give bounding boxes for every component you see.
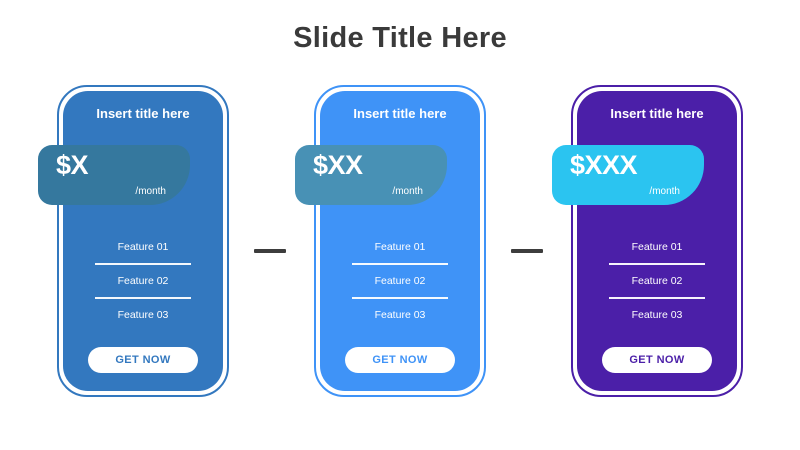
- feature-item: Feature 03: [63, 299, 223, 331]
- feature-divider: [609, 297, 705, 299]
- card-title-2: Insert title here: [577, 105, 737, 122]
- pricing-card-1[interactable]: Insert title here $XX /month Feature 01 …: [314, 85, 486, 397]
- price-amount-1: $XX: [313, 150, 363, 180]
- feature-item: Feature 01: [320, 231, 480, 263]
- price-period-1: /month: [392, 186, 423, 198]
- card-title-0: Insert title here: [63, 105, 223, 122]
- get-now-button-1[interactable]: GET NOW: [345, 347, 455, 373]
- feature-divider: [352, 297, 448, 299]
- card-separator-dash-0: [254, 249, 286, 253]
- feature-item: Feature 02: [63, 265, 223, 297]
- feature-divider: [95, 263, 191, 265]
- feature-item: Feature 02: [577, 265, 737, 297]
- features-list-0: Feature 01 Feature 02 Feature 03: [63, 231, 223, 331]
- page-title: Slide Title Here: [0, 22, 800, 55]
- card-title-1: Insert title here: [320, 105, 480, 122]
- price-banner-2: $XXX /month: [552, 145, 704, 205]
- price-amount-0: $X: [56, 150, 88, 180]
- price-banner-1: $XX /month: [295, 145, 447, 205]
- pricing-card-0[interactable]: Insert title here $X /month Feature 01 F…: [57, 85, 229, 397]
- feature-item: Feature 01: [577, 231, 737, 263]
- price-period-0: /month: [135, 186, 166, 198]
- slide-canvas: Slide Title Here Insert title here $X /m…: [0, 0, 800, 450]
- feature-divider: [95, 297, 191, 299]
- feature-item: Feature 02: [320, 265, 480, 297]
- feature-divider: [609, 263, 705, 265]
- feature-item: Feature 03: [577, 299, 737, 331]
- pricing-card-2[interactable]: Insert title here $XXX /month Feature 01…: [571, 85, 743, 397]
- card-body-0: Insert title here $X /month Feature 01 F…: [63, 91, 223, 391]
- card-body-2: Insert title here $XXX /month Feature 01…: [577, 91, 737, 391]
- card-body-1: Insert title here $XX /month Feature 01 …: [320, 91, 480, 391]
- price-amount-2: $XXX: [570, 150, 637, 180]
- feature-item: Feature 01: [63, 231, 223, 263]
- price-banner-0: $X /month: [38, 145, 190, 205]
- feature-divider: [352, 263, 448, 265]
- get-now-button-0[interactable]: GET NOW: [88, 347, 198, 373]
- get-now-button-2[interactable]: GET NOW: [602, 347, 712, 373]
- feature-item: Feature 03: [320, 299, 480, 331]
- features-list-1: Feature 01 Feature 02 Feature 03: [320, 231, 480, 331]
- price-period-2: /month: [649, 186, 680, 198]
- card-separator-dash-1: [511, 249, 543, 253]
- features-list-2: Feature 01 Feature 02 Feature 03: [577, 231, 737, 331]
